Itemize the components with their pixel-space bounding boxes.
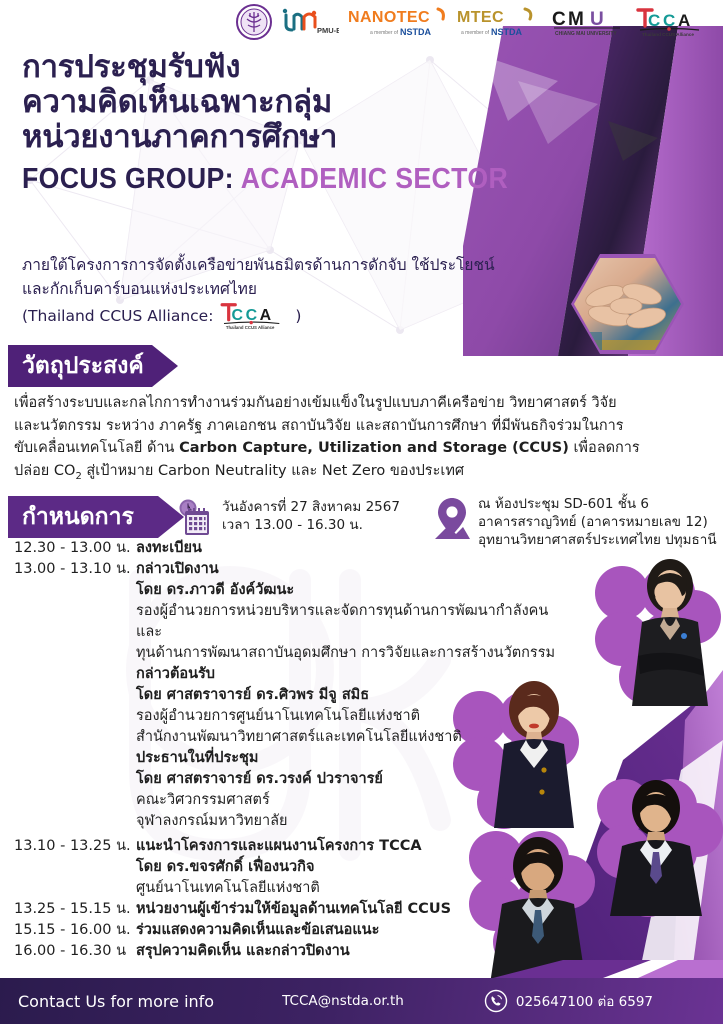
svg-text:C: C	[648, 11, 660, 30]
agenda-detail: จุฬาลงกรณ์มหาวิทยาลัย	[136, 811, 574, 832]
objective-paragraph-3: ขับเคลื่อนเทคโนโลยี ด้าน Carbon Capture,…	[14, 437, 714, 460]
agenda-list: 12.30 - 13.00 น. ลงทะเบียน 13.00 - 13.10…	[14, 538, 574, 962]
agenda-content: ร่วมแสดงความคิดเห็นและข้อเสนอแนะ	[136, 920, 379, 941]
contact-phone-group: 025647100 ต่อ 6597	[484, 989, 653, 1013]
agenda-detail: โดย ศาสตราจารย์ ดร.ศิวพร มีจู สมิธ	[136, 685, 574, 706]
event-venue-line-1: ณ ห้องประชุม SD-601 ชั้น 6	[478, 495, 717, 513]
footer-accent-wedge	[423, 960, 723, 978]
agenda-detail: คณะวิศวกรรมศาสตร์	[136, 790, 574, 811]
footer-contact-bar: Contact Us for more info TCCA@nstda.or.t…	[0, 978, 723, 1024]
agenda-content: กล่าวเปิดงาน โดย ดร.ภาวดี อังค์วัฒนะ รอง…	[136, 559, 574, 832]
speaker-4-photo	[600, 776, 718, 916]
objective-p4-pre: ปล่อย CO	[14, 463, 75, 479]
speaker-1-photo	[618, 556, 723, 706]
agenda-detail: โดย ดร.ขจรศักดิ์ เฟื่องนวกิจ	[136, 857, 422, 878]
event-date-block: วันอังคารที่ 27 สิงหาคม 2567 เวลา 13.00 …	[175, 498, 400, 538]
location-pin-icon	[432, 495, 472, 541]
subtitle-line-1: ภายใต้โครงการการจัดตั้งเครือข่ายพันธมิตร…	[22, 253, 582, 277]
svg-text:a member of: a member of	[461, 30, 490, 36]
conference-poster: PMU-B NANOTEC a member of NSTDA MTEC a m…	[0, 0, 723, 1024]
svg-text:A: A	[260, 307, 272, 324]
objective-section-banner: วัตถุประสงค์	[8, 345, 178, 387]
agenda-item: 15.15 - 16.00 น. ร่วมแสดงความคิดเห็นและข…	[14, 920, 574, 941]
title-line-2: ความคิดเห็นเฉพาะกลุ่ม	[22, 85, 542, 120]
title-english-prefix: FOCUS GROUP:	[22, 163, 241, 195]
svg-text:NSTDA: NSTDA	[491, 27, 522, 37]
agenda-title: แนะนำโครงการและแผนงานโครงการ TCCA	[136, 836, 422, 857]
event-venue-line-2: อาคารสราญวิทย์ (อาคารหมายเลข 12)	[478, 513, 717, 531]
objective-p3-post: เพื่อลดการ	[569, 440, 640, 456]
objective-banner-tip	[152, 345, 178, 387]
agenda-title: ร่วมแสดงความคิดเห็นและข้อเสนอแนะ	[136, 920, 379, 941]
title-english: FOCUS GROUP: ACADEMIC SECTOR	[22, 163, 500, 196]
agenda-item: 13.25 - 15.15 น. หน่วยงานผู้เข้าร่วมให้ข…	[14, 899, 574, 920]
svg-text:Thailand CCUS Alliance: Thailand CCUS Alliance	[642, 32, 694, 37]
contact-label: Contact Us for more info	[18, 992, 214, 1011]
contact-email[interactable]: TCCA@nstda.or.th	[282, 993, 404, 1009]
agenda-title: สรุปความคิดเห็น และกล่าวปิดงาน	[136, 941, 350, 962]
agenda-content: ลงทะเบียน	[136, 538, 202, 559]
svg-text:M: M	[568, 9, 584, 30]
event-date-lines: วันอังคารที่ 27 สิงหาคม 2567 เวลา 13.00 …	[222, 498, 400, 534]
agenda-time: 12.30 - 13.00 น.	[14, 538, 136, 559]
svg-text:PMU-B: PMU-B	[317, 26, 339, 35]
objective-paragraph-2: และนวัตกรรม ระหว่าง ภาครัฐ ภาคเอกชน สถาบ…	[14, 415, 714, 438]
agenda-detail: โดย ศาสตราจารย์ ดร.วรงค์ ปวราจารย์	[136, 769, 574, 790]
agenda-time: 13.25 - 15.15 น.	[14, 899, 136, 920]
agenda-time: 13.00 - 13.10 น.	[14, 559, 136, 580]
university-seal-logo	[236, 4, 272, 40]
svg-text:C: C	[232, 307, 244, 324]
svg-text:a member of: a member of	[370, 30, 399, 36]
objective-paragraph-4: ปล่อย CO2 สู่เป้าหมาย Carbon Neutrality …	[14, 460, 714, 488]
agenda-time: 16.00 - 16.30 น	[14, 941, 136, 962]
agenda-content: สรุปความคิดเห็น และกล่าวปิดงาน	[136, 941, 350, 962]
svg-text:C: C	[663, 11, 675, 30]
objective-body-text: เพื่อสร้างระบบและกลไกการทำงานร่วมกันอย่า…	[14, 392, 714, 488]
phone-icon	[484, 989, 508, 1013]
subtitle-line-3: (Thailand CCUS Alliance: C C A Thailand …	[22, 301, 582, 331]
title-english-accent: ACADEMIC SECTOR	[241, 163, 508, 195]
contact-phone: 025647100 ต่อ 6597	[516, 990, 653, 1012]
agenda-detail: รองผู้อำนวยการศูนย์นาโนเทคโนโลยีแห่งชาติ	[136, 706, 574, 727]
calendar-clock-icon	[175, 498, 215, 538]
svg-text:Thailand CCUS Alliance: Thailand CCUS Alliance	[226, 325, 275, 330]
cmu-logo: C M U CHIANG MAI UNIVERSITY	[550, 6, 626, 38]
agenda-detail: กล่าวต้อนรับ	[136, 664, 574, 685]
subtitle-line-3-post: )	[295, 304, 301, 328]
agenda-detail: สำนักงานพัฒนาวิทยาศาสตร์และเทคโนโลยีแห่ง…	[136, 727, 574, 748]
svg-text:A: A	[678, 11, 690, 30]
subtitle-line-3-pre: (Thailand CCUS Alliance:	[22, 304, 213, 328]
agenda-section-banner: กำหนดการ	[8, 496, 184, 538]
agenda-detail: ทุนด้านการพัฒนาสถาบันอุดมศึกษา การวิจัยแ…	[136, 643, 574, 664]
svg-text:NANOTEC: NANOTEC	[348, 9, 430, 26]
agenda-time: 15.15 - 16.00 น.	[14, 920, 136, 941]
objective-p3-pre: ขับเคลื่อนเทคโนโลยี ด้าน	[14, 440, 179, 456]
objective-paragraph-1: เพื่อสร้างระบบและกลไกการทำงานร่วมกันอย่า…	[14, 392, 714, 415]
tcca-inline-logo: C C A Thailand CCUS Alliance	[217, 301, 291, 331]
tcca-logo: C C A Thailand CCUS Alliance	[635, 6, 709, 38]
objective-banner-body: วัตถุประสงค์	[8, 345, 152, 387]
agenda-title: หน่วยงานผู้เข้าร่วมให้ข้อมูลด้านเทคโนโลย…	[136, 899, 451, 920]
agenda-item: 13.00 - 13.10 น. กล่าวเปิดงาน โดย ดร.ภาว…	[14, 559, 574, 832]
logo-bar: PMU-B NANOTEC a member of NSTDA MTEC a m…	[0, 0, 723, 44]
title-line-1: การประชุมรับฟัง	[22, 50, 542, 85]
event-date-line-2: เวลา 13.00 - 16.30 น.	[222, 516, 400, 534]
agenda-item: 12.30 - 13.00 น. ลงทะเบียน	[14, 538, 574, 559]
agenda-title: กล่าวเปิดงาน	[136, 559, 574, 580]
nanotec-logo: NANOTEC a member of NSTDA	[348, 6, 448, 38]
hands-teamwork-photo	[570, 254, 685, 354]
pmu-b-logo: PMU-B	[281, 7, 339, 37]
objective-p4-post: สู่เป้าหมาย Carbon Neutrality และ Net Ze…	[82, 463, 464, 479]
agenda-content: แนะนำโครงการและแผนงานโครงการ TCCA โดย ดร…	[136, 836, 422, 899]
agenda-item: 13.10 - 13.25 น. แนะนำโครงการและแผนงานโค…	[14, 836, 574, 899]
svg-text:U: U	[590, 9, 604, 30]
agenda-detail: รองผู้อำนวยการหน่วยบริหารและจัดการทุนด้า…	[136, 601, 574, 643]
agenda-time: 13.10 - 13.25 น.	[14, 836, 136, 857]
event-date-line-1: วันอังคารที่ 27 สิงหาคม 2567	[222, 498, 400, 516]
objective-p3-bold: Carbon Capture, Utilization and Storage …	[179, 440, 569, 456]
agenda-detail: ศูนย์นาโนเทคโนโลยีแห่งชาติ	[136, 878, 422, 899]
svg-text:CHIANG MAI UNIVERSITY: CHIANG MAI UNIVERSITY	[555, 31, 617, 37]
agenda-banner-body: กำหนดการ	[8, 496, 158, 538]
poster-title-block: การประชุมรับฟัง ความคิดเห็นเฉพาะกลุ่ม หน…	[22, 50, 542, 196]
agenda-item: 16.00 - 16.30 น สรุปความคิดเห็น และกล่าว…	[14, 941, 574, 962]
agenda-heading: กำหนดการ	[22, 499, 134, 535]
agenda-content: หน่วยงานผู้เข้าร่วมให้ข้อมูลด้านเทคโนโลย…	[136, 899, 451, 920]
svg-text:NSTDA: NSTDA	[400, 27, 431, 37]
title-line-3: หน่วยงานภาคการศึกษา	[22, 120, 542, 155]
subtitle-line-2: และกักเก็บคาร์บอนแห่งประเทศไทย	[22, 277, 582, 301]
agenda-detail: ประธานในที่ประชุม	[136, 748, 574, 769]
agenda-detail: โดย ดร.ภาวดี อังค์วัฒนะ	[136, 580, 574, 601]
objective-heading: วัตถุประสงค์	[22, 348, 144, 384]
agenda-title: ลงทะเบียน	[136, 538, 202, 559]
poster-subtitle: ภายใต้โครงการการจัดตั้งเครือข่ายพันธมิตร…	[22, 253, 582, 331]
svg-text:MTEC: MTEC	[457, 9, 504, 26]
mtec-logo: MTEC a member of NSTDA	[457, 6, 541, 38]
svg-text:C: C	[552, 9, 566, 30]
